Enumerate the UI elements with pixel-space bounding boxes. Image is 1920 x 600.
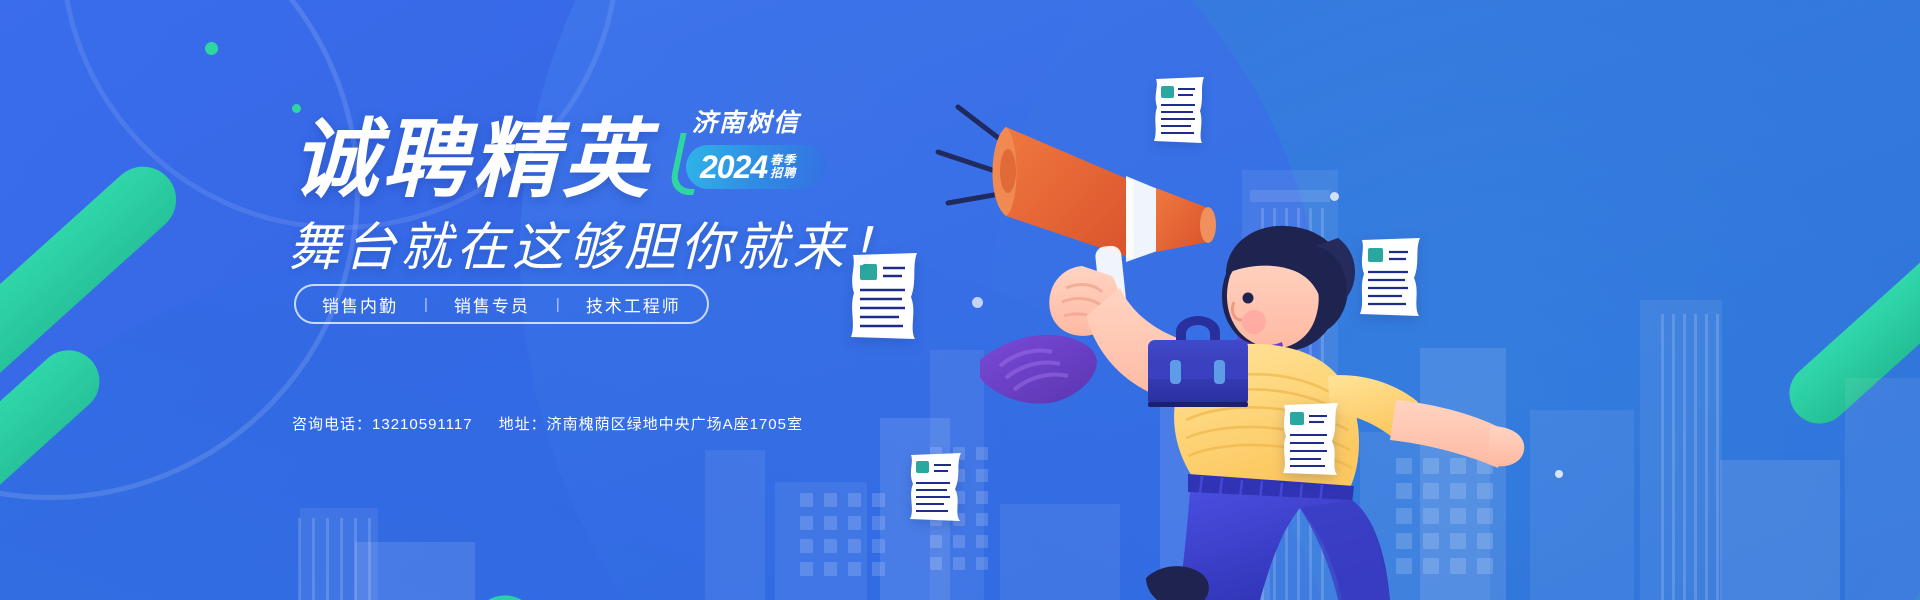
badge-year: 2024: [700, 151, 767, 183]
phone-group: 咨询电话：13210591117: [292, 413, 473, 434]
back-shoe: [980, 335, 1097, 404]
address-value: 济南槐荫区绿地中央广场A座1705室: [547, 416, 803, 433]
job-tag-3[interactable]: 技术工程师: [586, 292, 681, 317]
cheek-blush: [1242, 310, 1266, 334]
badge-season-line2: 招聘: [770, 167, 796, 180]
contact-info: 咨询电话：13210591117 地址：济南槐荫区绿地中央广场A座1705室: [292, 413, 803, 434]
phone-label: 咨询电话：: [292, 416, 372, 433]
page-title: 诚聘精英: [292, 117, 652, 203]
job-tags-bar: 销售内勤 | 销售专员 | 技术工程师: [294, 284, 709, 324]
tag-separator: |: [556, 296, 560, 313]
eye: [1243, 293, 1254, 304]
resume-paper: [1355, 235, 1427, 319]
recruitment-banner: 诚聘精英 济南树信 2024 春季 招聘 舞台就在这够胆你就来！ 销售内勤 | …: [0, 0, 1920, 600]
job-tag-1[interactable]: 销售内勤: [322, 292, 398, 317]
resume-paper: [905, 450, 967, 524]
address-label: 地址：: [499, 416, 547, 433]
text-content: 诚聘精英 济南树信 2024 春季 招聘 舞台就在这够胆你就来！ 销售内勤 | …: [0, 0, 900, 600]
phone-value: 13210591117: [372, 416, 473, 433]
brand-name: 济南树信: [692, 103, 800, 139]
resume-paper: [1278, 400, 1344, 478]
tag-separator: |: [424, 296, 428, 313]
subtitle: 舞台就在这够胆你就来！: [288, 205, 904, 280]
job-tag-2[interactable]: 销售专员: [454, 292, 530, 317]
resume-paper: [1150, 75, 1210, 145]
address-group: 地址：济南槐荫区绿地中央广场A座1705室: [499, 413, 803, 434]
badge-season-line1: 春季: [770, 154, 796, 167]
brand-badge: 济南树信 2024 春季 招聘: [668, 105, 840, 197]
right-hand: [1488, 426, 1524, 466]
year-badge: 2024 春季 招聘: [686, 145, 826, 189]
badge-season: 春季 招聘: [770, 154, 796, 181]
headline-row: 诚聘精英 济南树信 2024 春季 招聘: [292, 105, 840, 203]
